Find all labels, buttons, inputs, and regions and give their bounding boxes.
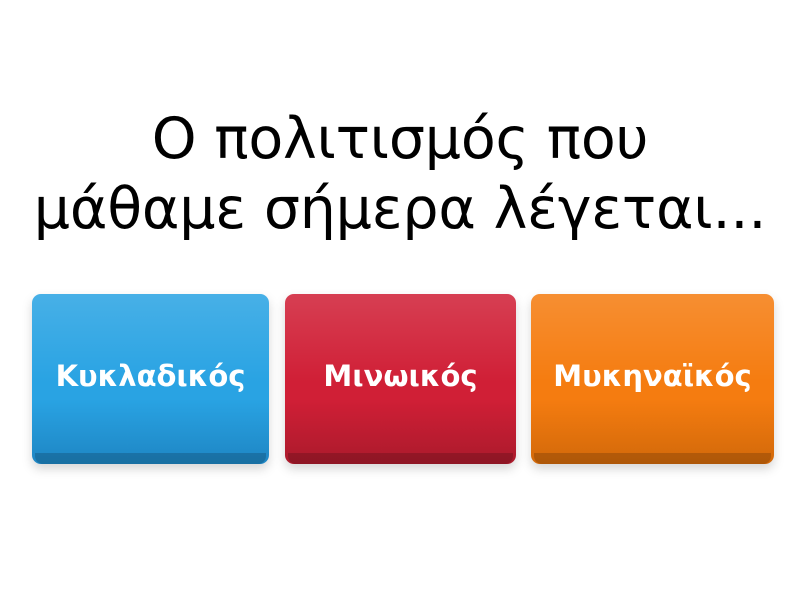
quiz-screen: Ο πολιτισμός που μάθαμε σήμερα λέγεται..… bbox=[0, 0, 800, 600]
answer-option-2-label: Μινωικός bbox=[323, 359, 477, 393]
answer-option-3-label: Μυκηναϊκός bbox=[553, 359, 751, 393]
answer-option-3-button[interactable]: Μυκηναϊκός bbox=[531, 294, 774, 464]
answer-option-2-button[interactable]: Μινωικός bbox=[285, 294, 516, 464]
answer-option-1-label: Κυκλαδικός bbox=[56, 359, 246, 393]
answer-option-1-button[interactable]: Κυκλαδικός bbox=[32, 294, 269, 464]
question-area: Ο πολιτισμός που μάθαμε σήμερα λέγεται..… bbox=[0, 104, 800, 244]
answer-options-row: Κυκλαδικός Μινωικός Μυκηναϊκός bbox=[32, 294, 774, 472]
question-text: Ο πολιτισμός που μάθαμε σήμερα λέγεται..… bbox=[0, 104, 800, 244]
